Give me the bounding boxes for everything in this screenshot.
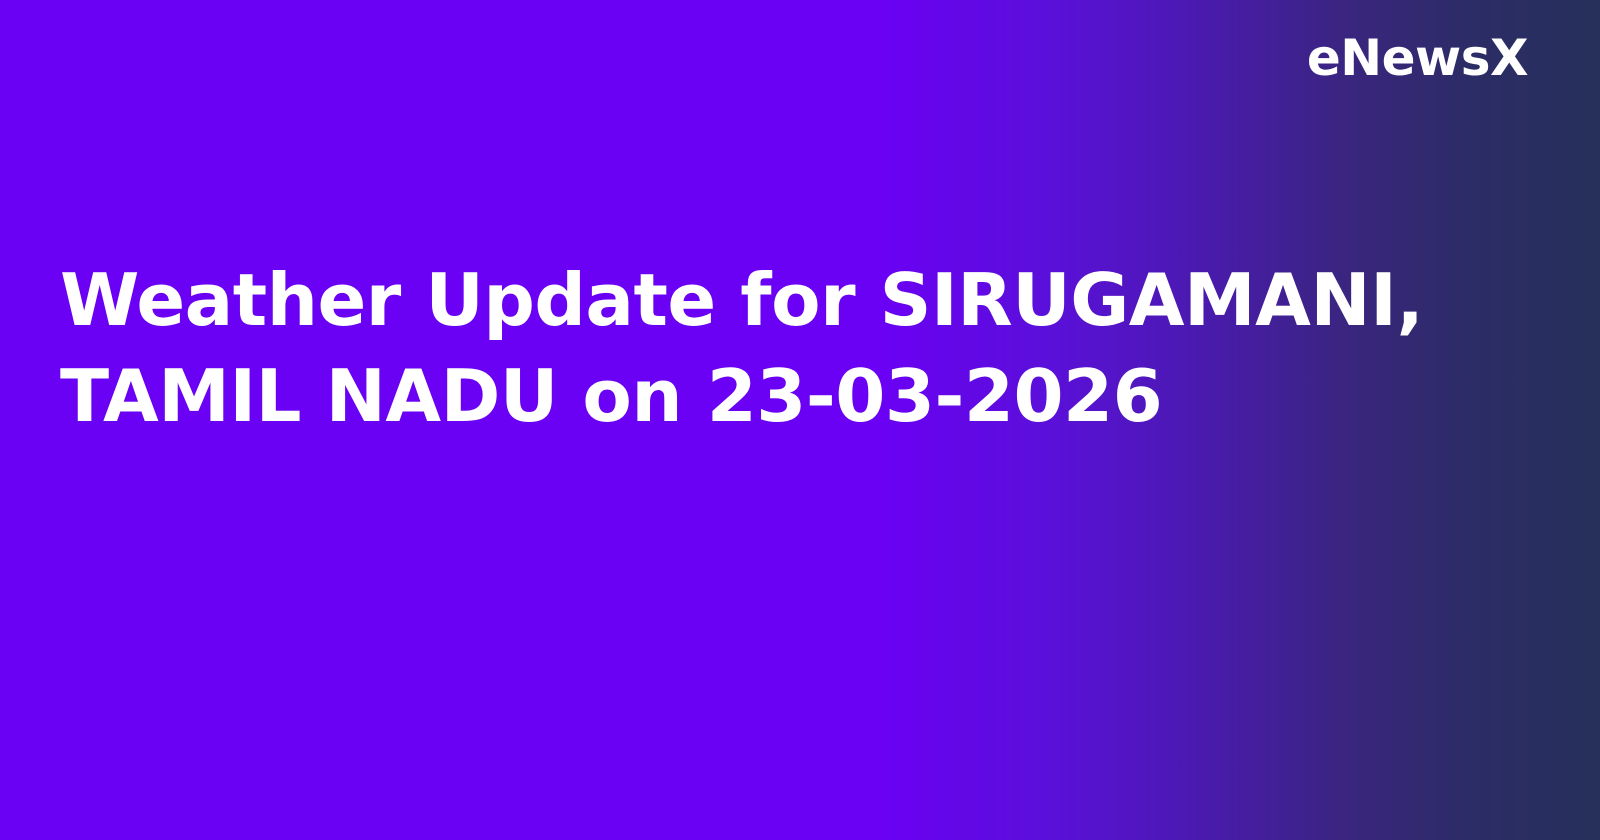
headline-block: Weather Update for SIRUGAMANI, TAMIL NAD… xyxy=(60,252,1460,444)
news-banner: eNewsX Weather Update for SIRUGAMANI, TA… xyxy=(0,0,1600,840)
page-title: Weather Update for SIRUGAMANI, TAMIL NAD… xyxy=(60,252,1460,444)
brand-logo[interactable]: eNewsX xyxy=(1307,28,1528,88)
